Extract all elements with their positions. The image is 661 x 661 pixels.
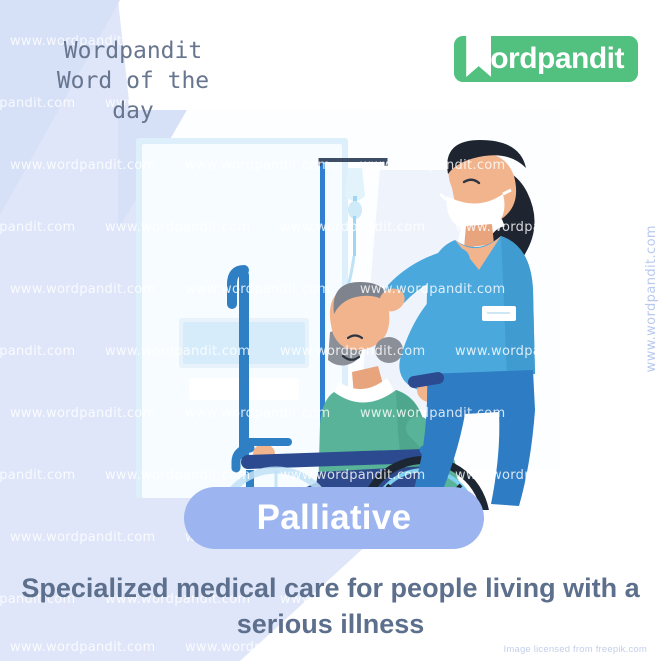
word-of-the-day-card: www.wordpandit.com www.wordpandit.com ww… — [0, 0, 661, 661]
word-definition: Specialized medical care for people livi… — [20, 570, 641, 642]
word-term: Palliative — [257, 498, 412, 538]
watermark-vertical: www.wordpandit.com — [644, 225, 659, 372]
image-attribution: Image licensed from freepik.com — [504, 644, 647, 655]
illustration — [0, 110, 661, 510]
word-of-the-day-heading: Wordpandit Word of the day — [18, 36, 248, 126]
word-badge: Palliative — [184, 487, 484, 549]
logo-text: ordpandit — [490, 42, 638, 76]
bookmark-w-mark-icon — [464, 36, 494, 82]
wordpandit-logo[interactable]: ordpandit — [454, 36, 638, 82]
